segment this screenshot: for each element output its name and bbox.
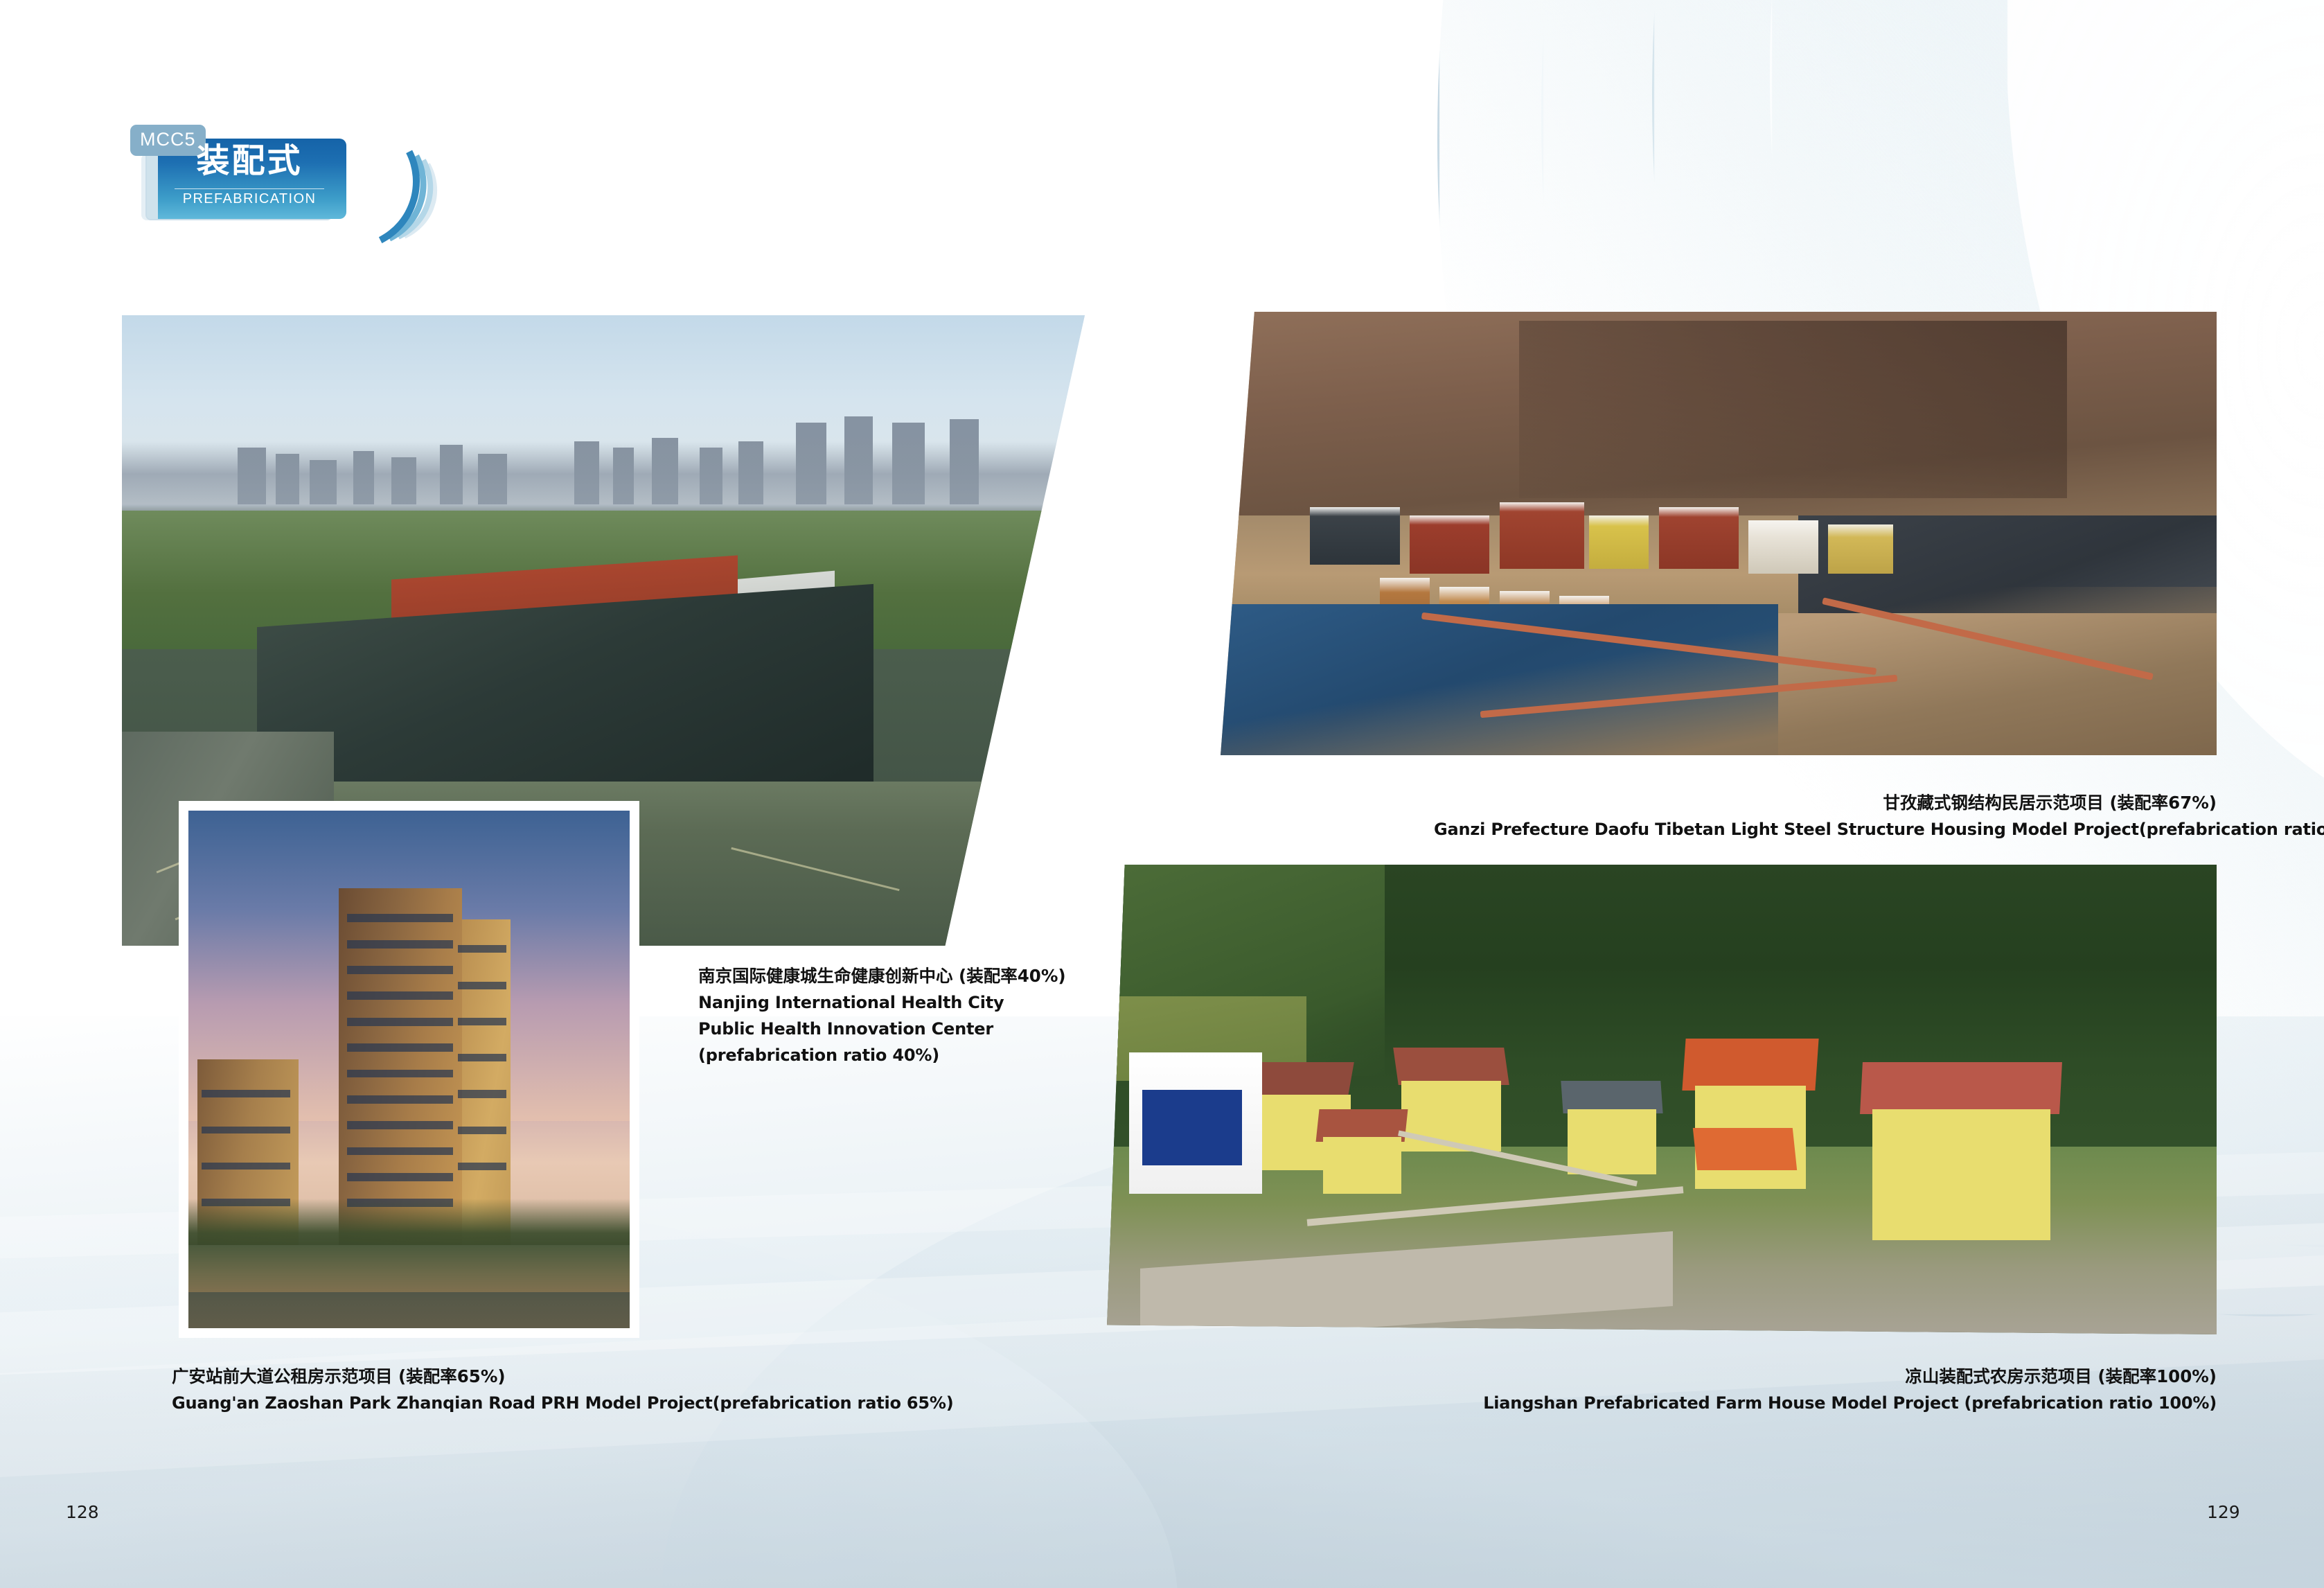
ga-window-band xyxy=(202,1127,290,1133)
ga-window-band xyxy=(347,1070,453,1078)
ls-roof xyxy=(1393,1048,1509,1085)
section-badge: 装配式 PREFABRICATION MCC5 xyxy=(122,125,413,222)
caption-nanjing: 南京国际健康城生命健康创新中心 (装配率40%) Nanjing Interna… xyxy=(698,963,1066,1068)
ga-window-band xyxy=(458,1163,506,1170)
ga-window-band xyxy=(458,1127,506,1134)
caption-liangshan: 凉山装配式农房示范项目 (装配率100%) Liangshan Prefabri… xyxy=(1455,1364,2217,1417)
ls-roof xyxy=(1860,1062,2062,1114)
gz-house xyxy=(1589,515,1649,569)
page-number-left: 128 xyxy=(66,1502,99,1522)
page-number-right: 129 xyxy=(2207,1502,2240,1522)
ga-window-band xyxy=(347,914,453,922)
ga-water-feature xyxy=(188,1292,630,1328)
badge-title-en: PREFABRICATION xyxy=(152,191,346,207)
photo-guangan-tower xyxy=(179,801,639,1338)
ls-roof xyxy=(1682,1039,1818,1091)
caption-nanjing-en-1: Nanjing International Health City xyxy=(698,990,1066,1016)
gz-riverbank xyxy=(1221,587,2217,755)
badge-divider xyxy=(175,188,324,189)
caption-guangan-cn: 广安站前大道公租房示范项目 (装配率65%) xyxy=(172,1364,954,1391)
ga-window-band xyxy=(458,1018,506,1025)
caption-ganzi-en: Ganzi Prefecture Daofu Tibetan Light Ste… xyxy=(1434,817,2217,843)
caption-liangshan-en: Liangshan Prefabricated Farm House Model… xyxy=(1455,1391,2217,1417)
caption-guangan-en: Guang'an Zaoshan Park Zhanqian Road PRH … xyxy=(172,1391,954,1417)
gz-house xyxy=(1828,524,1892,573)
ls-house xyxy=(1872,1109,2050,1241)
gz-mountain-shadow xyxy=(1519,321,2067,498)
photo-ganzi-tibetan-village xyxy=(1221,312,2217,755)
ga-window-band xyxy=(458,1090,506,1097)
ga-window-band xyxy=(347,1147,453,1156)
ga-window-band xyxy=(347,991,453,1000)
ga-window-band xyxy=(202,1090,290,1097)
gz-house xyxy=(1410,515,1489,573)
ga-window-band xyxy=(458,982,506,989)
ga-window-band xyxy=(347,1173,453,1181)
caption-ganzi: 甘孜藏式钢结构民居示范项目 (装配率67%) Ganzi Prefecture … xyxy=(1434,790,2217,843)
ls-roof xyxy=(1693,1128,1798,1170)
ga-window-band xyxy=(347,1018,453,1026)
ls-house xyxy=(1568,1109,1656,1175)
ls-mcc-banner xyxy=(1142,1090,1242,1165)
ga-window-band xyxy=(347,940,453,949)
gz-house xyxy=(1500,502,1584,569)
caption-ganzi-cn: 甘孜藏式钢结构民居示范项目 (装配率67%) xyxy=(1434,790,2217,817)
ls-house xyxy=(1401,1081,1501,1152)
gz-house xyxy=(1748,520,1818,574)
ls-house xyxy=(1323,1137,1401,1193)
ga-window-band xyxy=(347,1095,453,1104)
caption-nanjing-en-3: (prefabrication ratio 40%) xyxy=(698,1043,1066,1069)
photo-liangshan-farm-houses xyxy=(1107,865,2217,1334)
gz-house xyxy=(1310,507,1399,565)
caption-nanjing-cn: 南京国际健康城生命健康创新中心 (装配率40%) xyxy=(698,963,1066,990)
badge-title-cn: 装配式 xyxy=(152,140,346,182)
ga-window-band xyxy=(458,1054,506,1061)
ga-window-band xyxy=(347,1121,453,1129)
ga-window-band xyxy=(202,1163,290,1170)
gz-house xyxy=(1659,507,1739,570)
ga-window-band xyxy=(347,966,453,974)
caption-liangshan-cn: 凉山装配式农房示范项目 (装配率100%) xyxy=(1455,1364,2217,1391)
caption-nanjing-en-2: Public Health Innovation Center xyxy=(698,1016,1066,1043)
caption-guangan: 广安站前大道公租房示范项目 (装配率65%) Guang'an Zaoshan … xyxy=(172,1364,954,1417)
ga-window-band xyxy=(458,945,506,953)
ga-window-band xyxy=(347,1043,453,1052)
